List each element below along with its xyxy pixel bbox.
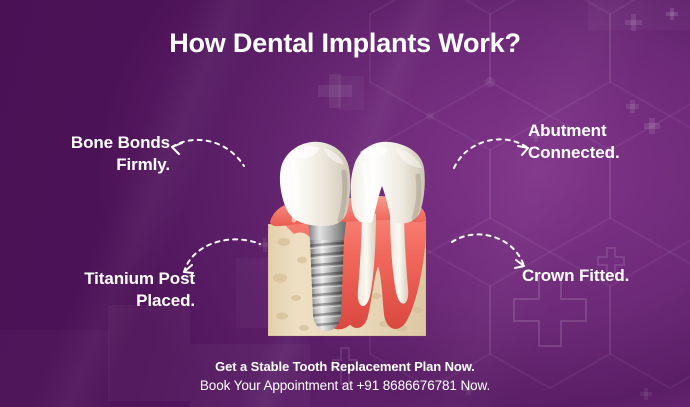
dashed-arrow-titanium-post <box>176 234 268 280</box>
callout-label-titanium-post: Titanium Post Placed. <box>10 268 195 312</box>
cta-block: Get a Stable Tooth Replacement Plan Now.… <box>0 359 690 393</box>
rectangle-decoration <box>338 76 364 110</box>
dashed-arrow-crown-fitted <box>450 230 538 276</box>
dental-implant-banner: How Dental Implants Work? Bone Bonds Fir… <box>0 0 690 407</box>
callout-label-abutment: Abutment Connected. <box>528 120 690 164</box>
page-title: How Dental Implants Work? <box>0 28 690 59</box>
cta-appointment-line[interactable]: Book Your Appointment at +91 8686676781 … <box>0 378 690 393</box>
dashed-arrow-abutment <box>452 134 540 174</box>
plus-icon <box>666 8 678 20</box>
callout-label-bone-bonds: Bone Bonds Firmly. <box>10 132 170 176</box>
rectangle-decoration <box>588 0 690 30</box>
callout-label-crown-fitted: Crown Fitted. <box>522 265 690 287</box>
plus-icon <box>626 100 639 113</box>
cta-headline: Get a Stable Tooth Replacement Plan Now. <box>0 359 690 374</box>
dental-implant-cross-section-illustration <box>258 138 436 340</box>
dashed-arrow-bone-bonds <box>160 136 252 176</box>
plus-icon <box>318 74 352 108</box>
